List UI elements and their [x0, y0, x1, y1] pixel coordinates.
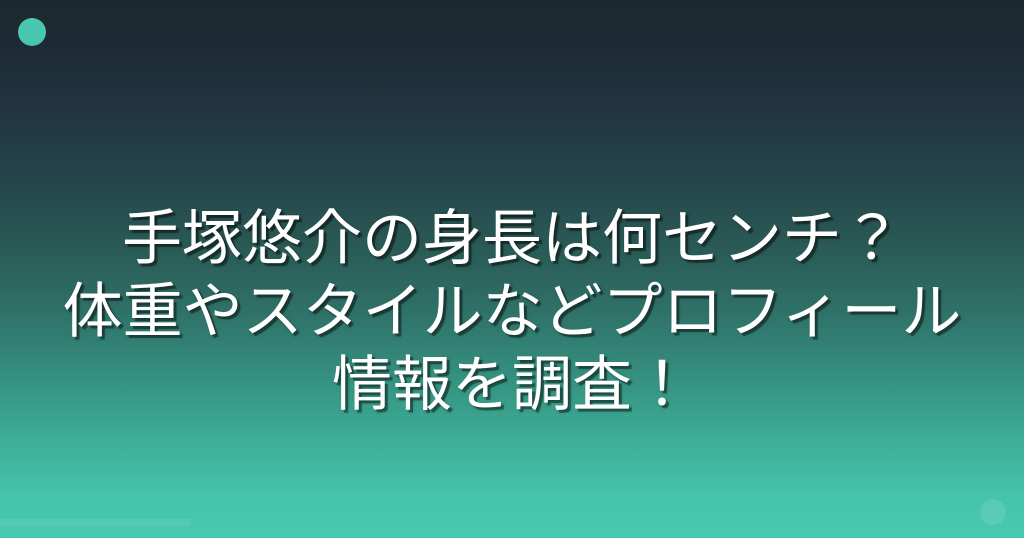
article-eyecatch-banner: 手塚悠介の身長は何センチ？ 体重やスタイルなどプロフィール 情報を調査！ — [0, 0, 1024, 538]
banner-title-line-2: 体重やスタイルなどプロフィール — [0, 276, 1024, 349]
accent-band-decoration — [0, 519, 190, 526]
banner-title-line-1: 手塚悠介の身長は何センチ？ — [0, 203, 1024, 276]
accent-dot-icon-bottom-right — [980, 499, 1006, 525]
banner-title: 手塚悠介の身長は何センチ？ 体重やスタイルなどプロフィール 情報を調査！ — [0, 203, 1024, 422]
banner-title-line-3: 情報を調査！ — [0, 349, 1024, 422]
accent-dot-icon-top-left — [18, 18, 46, 46]
